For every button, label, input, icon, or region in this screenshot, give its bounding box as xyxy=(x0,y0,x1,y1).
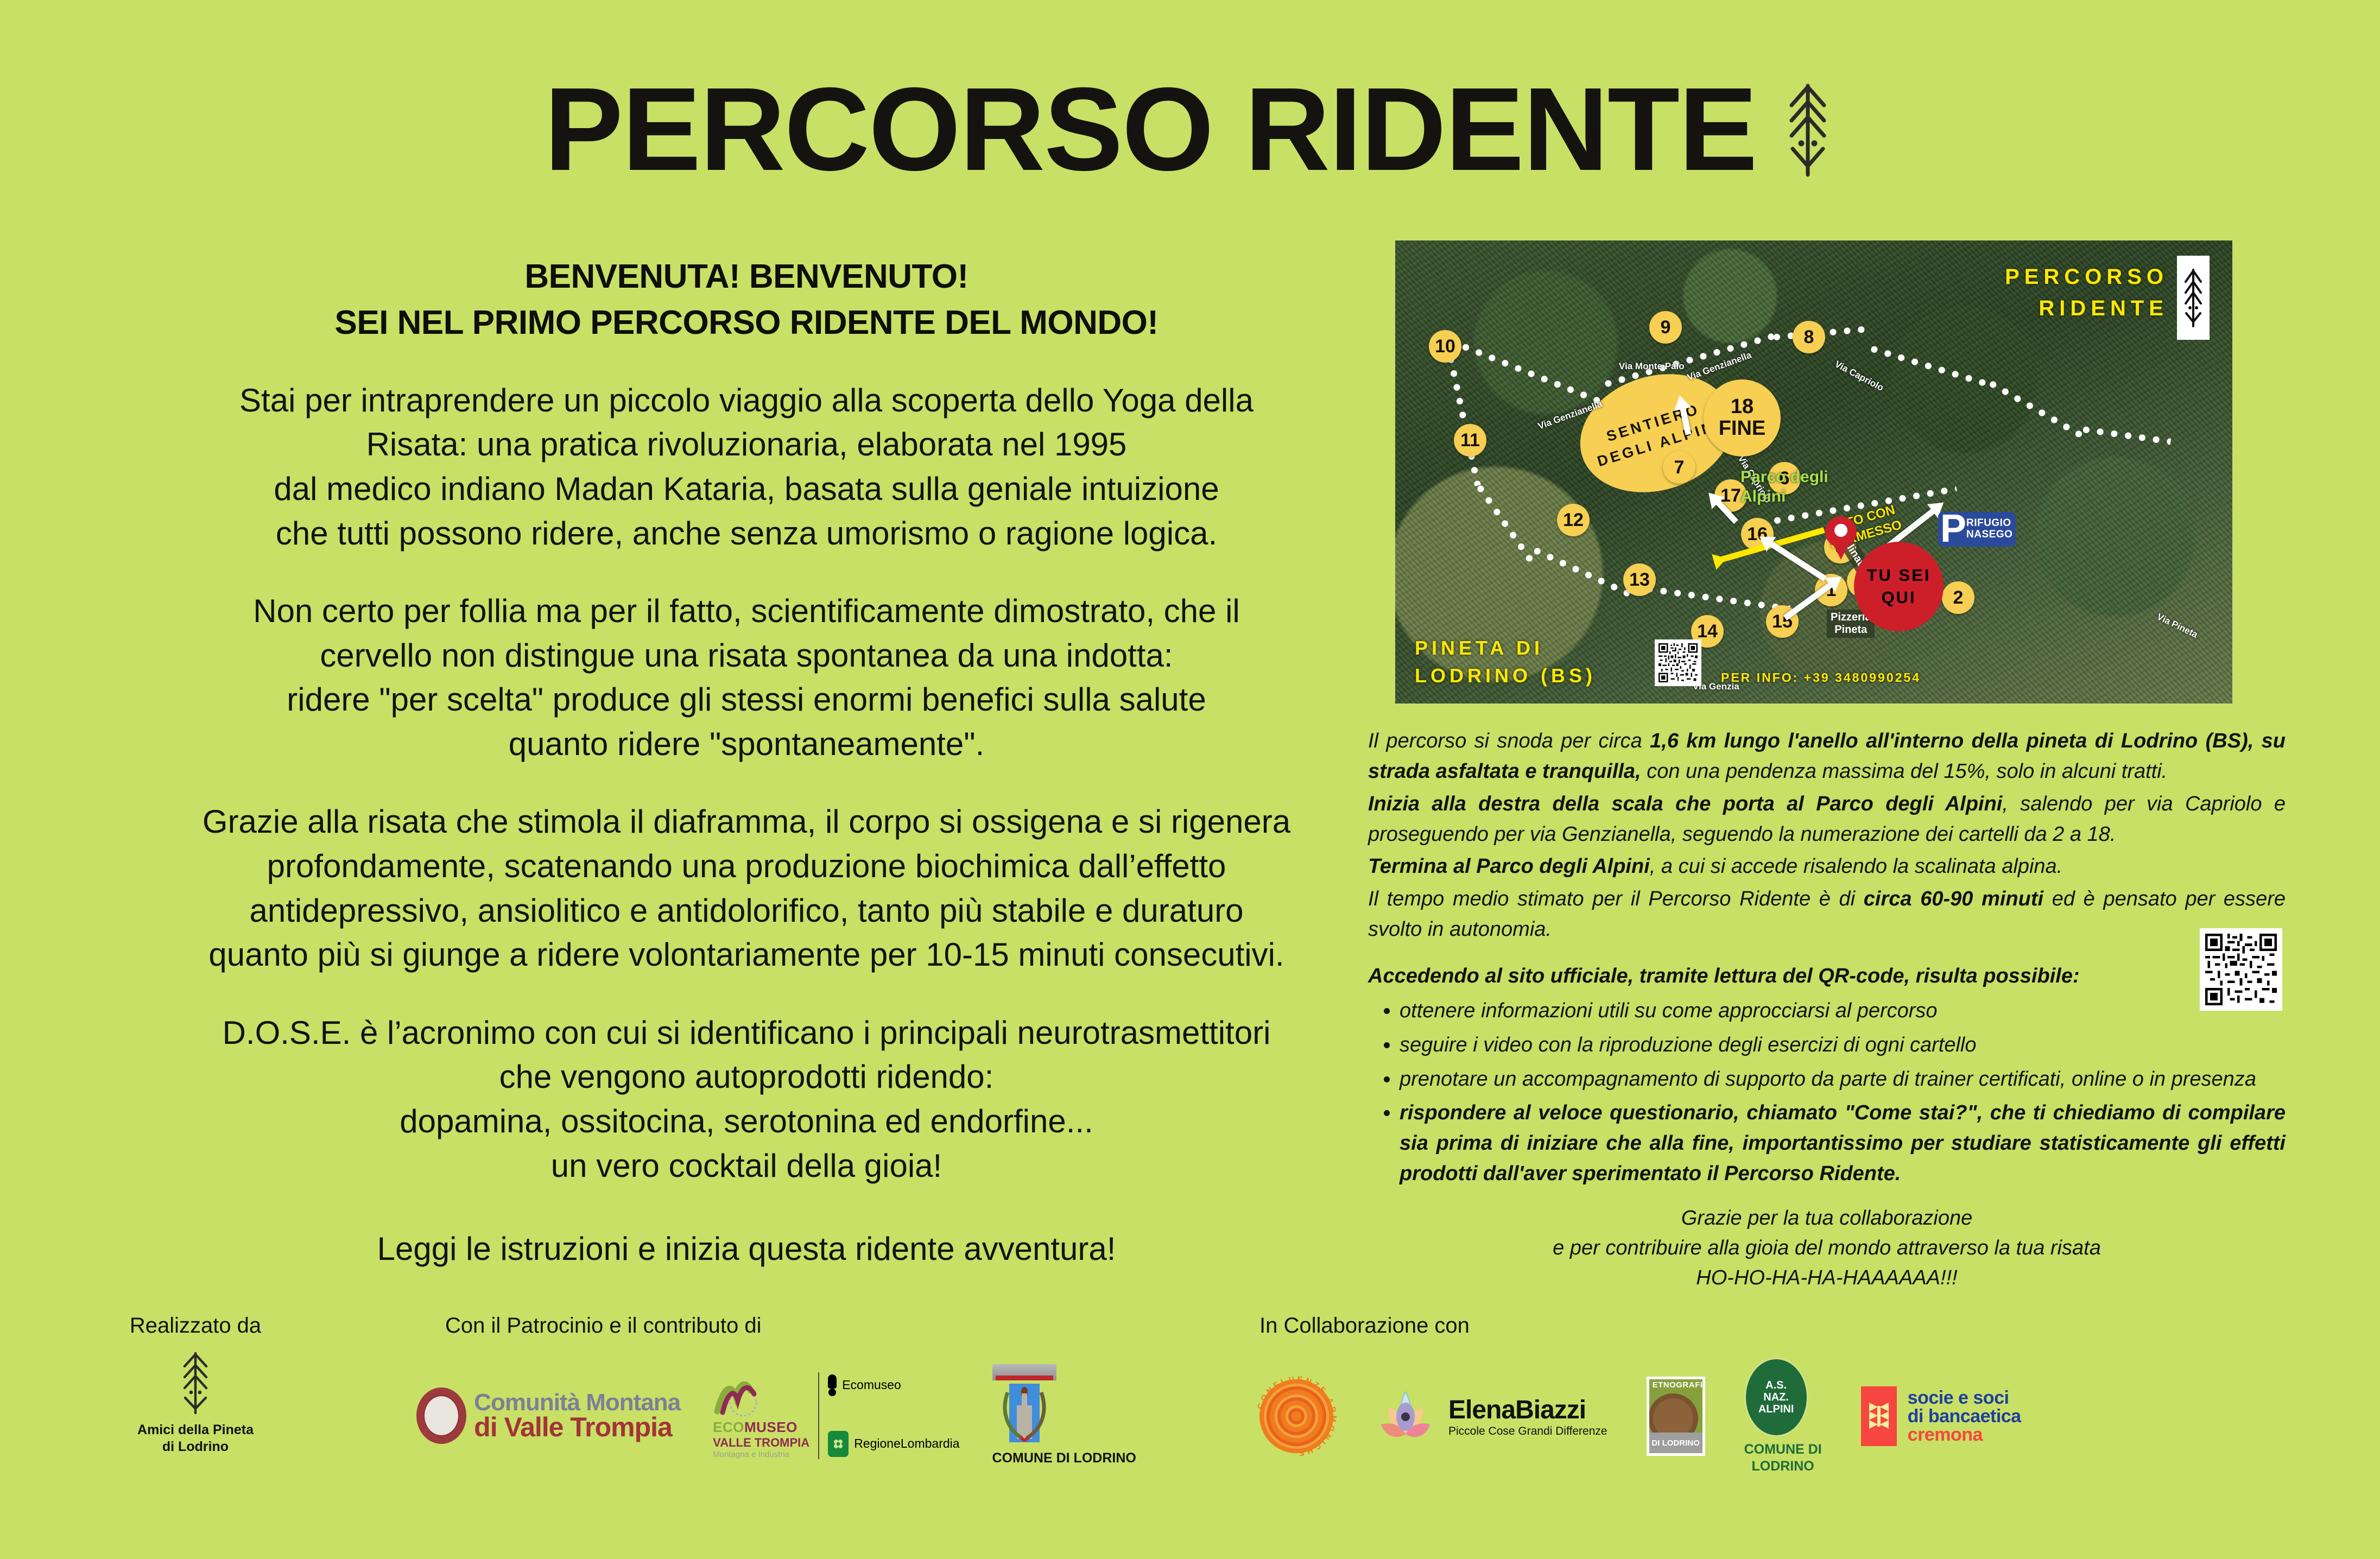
road-label-monte-palo: Via Monte Palo xyxy=(1619,361,1685,372)
list-item: ottenere informazioni utili su come appr… xyxy=(1400,996,2286,1026)
comunita-montana-line-2: di Valle Trompia xyxy=(474,1414,680,1440)
comune-di-lodrino-logo: COMUNE DI LODRINO xyxy=(992,1364,1136,1467)
map-title-line-2: RIDENTE xyxy=(2005,293,2168,324)
poster-header: PERCORSO RIDENTE xyxy=(0,71,2380,189)
museo-bottom-label: DI LODRINO xyxy=(1649,1433,1702,1453)
detail-p3-c: , a cui si accede risalendo la scalinata… xyxy=(1650,855,2062,878)
map-node-11[interactable]: 11 xyxy=(1454,424,1486,457)
elena-biazzi-text: ElenaBiazzi Piccole Cose Grandi Differen… xyxy=(1448,1395,1607,1438)
bancaetica-line-2: di bancaetica xyxy=(1908,1407,2021,1425)
elena-biazzi-name: ElenaBiazzi xyxy=(1448,1395,1607,1425)
seal-inner xyxy=(423,1395,459,1436)
footer-logo-row: Amici della Pineta di Lodrino xyxy=(81,1348,309,1456)
map-title: PERCORSO RIDENTE xyxy=(2005,261,2168,324)
dose-line: D.O.S.E. è l’acronimo con cui si identif… xyxy=(114,1011,1379,1055)
science-line: quanto ridere "spontaneamente". xyxy=(114,722,1379,766)
ecomuseo-sub-1: VALLE TROMPIA xyxy=(713,1436,809,1450)
ecomuseo-partner-2: RegioneLombardia xyxy=(828,1431,959,1457)
footer-logo-row: CONFLUENZE ARMONICHE xyxy=(1238,1348,2334,1475)
ana-badge-icon: A.S. NAZ. ALPINI xyxy=(1744,1358,1808,1437)
ecomuseo-logo: ECOMUSEO VALLE TROMPIA Montagna e Indust… xyxy=(713,1372,959,1459)
intro-line: che tutti possono ridere, anche senza um… xyxy=(114,511,1379,556)
spacer xyxy=(1368,947,2286,961)
amici-della-pineta-logo: Amici della Pineta di Lodrino xyxy=(137,1348,254,1456)
list-item: rispondere al veloce questionario, chiam… xyxy=(1400,1098,2286,1189)
science-line: Non certo per follia ma per il fatto, sc… xyxy=(114,589,1379,633)
pin-body xyxy=(1825,516,1857,548)
museo-etnografico-logo: ETNOGRAFICO MUSEO DI LODRINO xyxy=(1647,1377,1705,1456)
list-item: seguire i video con la riproduzione degl… xyxy=(1400,1030,2286,1061)
welcome-line-1: BENVENUTA! BENVENUTO! xyxy=(114,255,1379,298)
ecomuseo-mark-icon xyxy=(713,1372,765,1419)
left-text-column: BENVENUTA! BENVENUTO! SEI NEL PRIMO PERC… xyxy=(114,255,1379,1270)
thanks-line-2: e per contribuire alla gioia del mondo a… xyxy=(1368,1233,2286,1263)
svg-text:CONFLUENZE ARMONICHE: CONFLUENZE ARMONICHE xyxy=(1256,1375,1338,1457)
footer-group-patrocinio: Con il Patrocinio e il contributo di Com… xyxy=(347,1314,1205,1467)
crest-wreath xyxy=(992,1364,1056,1446)
bancaetica-line-3: cremona xyxy=(1908,1425,2021,1444)
detail-paragraph-4: Il tempo medio stimato per il Percorso R… xyxy=(1368,884,2286,945)
amici-caption: Amici della Pineta di Lodrino xyxy=(137,1422,254,1456)
qr-section-heading: Accedendo al sito ufficiale, tramite let… xyxy=(1368,961,2286,992)
ana-alpini-logo: A.S. NAZ. ALPINI COMUNE DI LODRINO xyxy=(1744,1358,1822,1475)
intro-line: Risata: una pratica rivoluzionaria, elab… xyxy=(114,422,1379,467)
comunita-montana-text: Comunità Montana di Valle Trompia xyxy=(474,1391,680,1440)
ana-badge-line-3: ALPINI xyxy=(1758,1403,1794,1415)
ecomuseo-title-b: MUSEO xyxy=(744,1419,797,1435)
smiling-pine-tree-icon xyxy=(1780,78,1836,181)
location-pin-icon xyxy=(1825,516,1857,560)
footer-heading-collaborazione: In Collaborazione con xyxy=(1238,1314,2334,1338)
detail-p4-b: circa 60-90 minuti xyxy=(1864,888,2043,910)
detail-p3-b: Termina al Parco degli Alpini xyxy=(1368,855,1650,878)
parking-caption-line-2: NASEGO xyxy=(1966,529,2012,541)
map-place-line-1: PINETA DI xyxy=(1415,635,1596,662)
intro-line: Stai per intraprendere un piccolo viaggi… xyxy=(114,378,1379,423)
ecomuseo-partners: Ecomuseo RegioneLombardia xyxy=(828,1372,959,1459)
qr-section-list: ottenere informazioni utili su come appr… xyxy=(1368,996,2286,1189)
ana-badge-line-1: A.S. xyxy=(1758,1379,1794,1391)
footer-heading-realizzato: Realizzato da xyxy=(81,1314,309,1338)
ecomuseo-left: ECOMUSEO VALLE TROMPIA Montagna e Indust… xyxy=(713,1372,809,1459)
parking-caption: RIFUGIO NASEGO xyxy=(1966,518,2012,541)
benefits-line: antidepressivo, ansiolitico e antidolori… xyxy=(114,889,1379,933)
detail-p1-a: Il percorso si snoda per circa xyxy=(1368,730,1650,752)
parco-label-line-1: Parco degli xyxy=(1740,467,1828,487)
detail-p2-b: Inizia alla destra della scala che porta… xyxy=(1368,793,2002,815)
ana-badge-line-2: NAZ. xyxy=(1758,1391,1794,1403)
footer-heading-patrocinio: Con il Patrocinio e il contributo di xyxy=(347,1314,1205,1338)
footer-group-collaborazione: In Collaborazione con CONFLUENZE ARMONIC… xyxy=(1238,1314,2334,1475)
trail-map[interactable]: 10 9 8 7 6 5 4 3 2 11 12 13 14 15 16 17 … xyxy=(1395,240,2232,704)
detail-paragraph-1: Il percorso si snoda per circa 1,6 km lu… xyxy=(1368,726,2286,787)
ecomuseo-title-a: ECO xyxy=(713,1419,744,1435)
comunita-montana-logo: Comunità Montana di Valle Trompia xyxy=(416,1387,680,1444)
map-place-name: PINETA DI LODRINO (BS) xyxy=(1415,635,1596,689)
ecomuseo-partner-1-label: Ecomuseo xyxy=(842,1378,901,1392)
site-qr-code-icon[interactable] xyxy=(2200,928,2282,1011)
elena-biazzi-logo: ElenaBiazzi Piccole Cose Grandi Differen… xyxy=(1372,1383,1607,1449)
amici-caption-line-2: di Lodrino xyxy=(137,1438,254,1455)
dose-line: che vengono autoprodotti ridendo: xyxy=(114,1055,1379,1099)
map-qr-code-icon[interactable] xyxy=(1655,639,1701,686)
page-title: PERCORSO RIDENTE xyxy=(544,71,1756,189)
exclamation-icon xyxy=(828,1374,837,1396)
bancaetica-logo: socie e soci di bancaetica cremona xyxy=(1861,1386,2021,1446)
you-are-here-text: TU SEI QUI xyxy=(1854,565,1944,609)
ecomuseo-sub-2: Montagna e Industria xyxy=(713,1450,809,1459)
benefits-line: profondamente, scatenando una produzione… xyxy=(114,844,1379,889)
dose-line: un vero cocktail della gioia! xyxy=(114,1144,1379,1188)
science-paragraph: Non certo per follia ma per il fatto, sc… xyxy=(114,589,1379,766)
thanks-line-1: Grazie per la tua collaborazione xyxy=(1368,1203,2286,1233)
divider xyxy=(818,1372,819,1459)
comunita-montana-line-1: Comunità Montana xyxy=(474,1391,680,1414)
map-node-2[interactable]: 2 xyxy=(1942,581,1974,614)
map-contact-info: PER INFO: +39 3480990254 xyxy=(1721,670,1921,685)
dose-paragraph: D.O.S.E. è l’acronimo con cui si identif… xyxy=(114,1011,1379,1188)
lotus-icon xyxy=(1372,1383,1439,1449)
right-text-column: Il percorso si snoda per circa 1,6 km lu… xyxy=(1368,726,2286,1293)
museo-inner: ETNOGRAFICO MUSEO DI LODRINO xyxy=(1649,1379,1702,1453)
ana-caption-line-1: COMUNE DI xyxy=(1744,1441,1822,1458)
museo-top-label: ETNOGRAFICO xyxy=(1653,1380,1702,1390)
parco-degli-alpini-label: Parco degli Alpini xyxy=(1740,467,1828,506)
science-line: ridere "per scelta" produce gli stessi e… xyxy=(114,677,1379,722)
map-node-18-fine[interactable]: 18 FINE xyxy=(1704,379,1781,457)
parco-label-line-2: Alpini xyxy=(1740,487,1828,506)
seal-icon xyxy=(416,1387,466,1444)
comune-caption: COMUNE DI LODRINO xyxy=(992,1450,1136,1467)
map-title-line-1: PERCORSO xyxy=(2005,261,2168,293)
map-node-7[interactable]: 7 xyxy=(1663,451,1695,484)
intro-line: dal medico indiano Madan Kataria, basata… xyxy=(114,467,1379,511)
parking-caption-line-1: RIFUGIO xyxy=(1966,518,2012,529)
map-node-12[interactable]: 12 xyxy=(1557,504,1590,536)
confluenze-armoniche-logo: CONFLUENZE ARMONICHE xyxy=(1259,1379,1333,1453)
dose-line: dopamina, ossitocina, serotonina ed endo… xyxy=(114,1099,1379,1144)
map-node-18-label: FINE xyxy=(1719,418,1766,440)
bancaetica-line-1: socie e soci xyxy=(1908,1389,2021,1407)
regione-lombardia-icon xyxy=(828,1431,849,1457)
science-line: cervello non distingue una risata sponta… xyxy=(114,633,1379,678)
thanks-line-3: HO-HO-HA-HA-HAAAAAA!!! xyxy=(1368,1263,2286,1293)
confluenze-text-ring: CONFLUENZE ARMONICHE xyxy=(1255,1374,1338,1458)
ana-caption-line-2: LODRINO xyxy=(1744,1458,1822,1475)
footer-logo-row: Comunità Montana di Valle Trompia ECOMUS… xyxy=(347,1348,1205,1467)
benefits-paragraph: Grazie alla risata che stimola il diafra… xyxy=(114,800,1379,977)
bancaetica-text: socie e soci di bancaetica cremona xyxy=(1908,1389,2021,1444)
parking-p-glyph: P xyxy=(1940,514,1966,545)
detail-p4-a: Il tempo medio stimato per il Percorso R… xyxy=(1368,888,1864,910)
intro-paragraph: Stai per intraprendere un piccolo viaggi… xyxy=(114,378,1379,555)
footer: Realizzato da Amici della Pineta xyxy=(0,1314,2380,1559)
ecomuseo-partner-2-label: RegioneLombardia xyxy=(854,1436,959,1451)
thanks-block: Grazie per la tua collaborazione e per c… xyxy=(1368,1203,2286,1293)
ecomuseo-title: ECOMUSEO xyxy=(713,1419,809,1436)
map-node-8[interactable]: 8 xyxy=(1793,321,1825,353)
benefits-line: quanto più si giunge a ridere volontaria… xyxy=(114,933,1379,977)
amici-caption-line-1: Amici della Pineta xyxy=(137,1422,254,1438)
map-node-13[interactable]: 13 xyxy=(1623,563,1656,596)
benefits-line: Grazie alla risata che stimola il diafra… xyxy=(114,800,1379,844)
closing-call-to-action: Leggi le istruzioni e inizia questa ride… xyxy=(114,1228,1379,1270)
pine-tree-icon xyxy=(2177,256,2210,340)
ana-badge-text: A.S. NAZ. ALPINI xyxy=(1758,1379,1794,1415)
footer-group-realizzato-da: Realizzato da Amici della Pineta xyxy=(81,1314,309,1456)
list-item: prenotare un accompagnamento di supporto… xyxy=(1400,1064,2286,1095)
you-are-here-badge: TU SEI QUI xyxy=(1854,542,1944,631)
elena-biazzi-tagline: Piccole Cose Grandi Differenze xyxy=(1448,1425,1607,1438)
pizzeria-line-2: Pineta xyxy=(1831,624,1871,636)
detail-paragraph-2: Inizia alla destra della scala che porta… xyxy=(1368,789,2286,850)
welcome-line-2: SEI NEL PRIMO PERCORSO RIDENTE DEL MONDO… xyxy=(114,301,1379,344)
map-node-10[interactable]: 10 xyxy=(1429,330,1461,363)
detail-p1-c: con una pendenza massima del 15%, solo i… xyxy=(1641,760,2168,783)
map-node-18-number: 18 xyxy=(1731,396,1754,418)
map-node-9[interactable]: 9 xyxy=(1649,311,1682,344)
detail-paragraph-3: Termina al Parco degli Alpini, a cui si … xyxy=(1368,852,2286,882)
bancaetica-mark-icon xyxy=(1861,1386,1897,1446)
map-place-line-2: LODRINO (BS) xyxy=(1415,662,1596,689)
ana-caption: COMUNE DI LODRINO xyxy=(1744,1441,1822,1475)
ecomuseo-partner-1: Ecomuseo xyxy=(828,1374,959,1396)
parking-sign: P RIFUGIO NASEGO xyxy=(1938,512,2016,547)
town-crest-icon xyxy=(992,1364,1056,1442)
